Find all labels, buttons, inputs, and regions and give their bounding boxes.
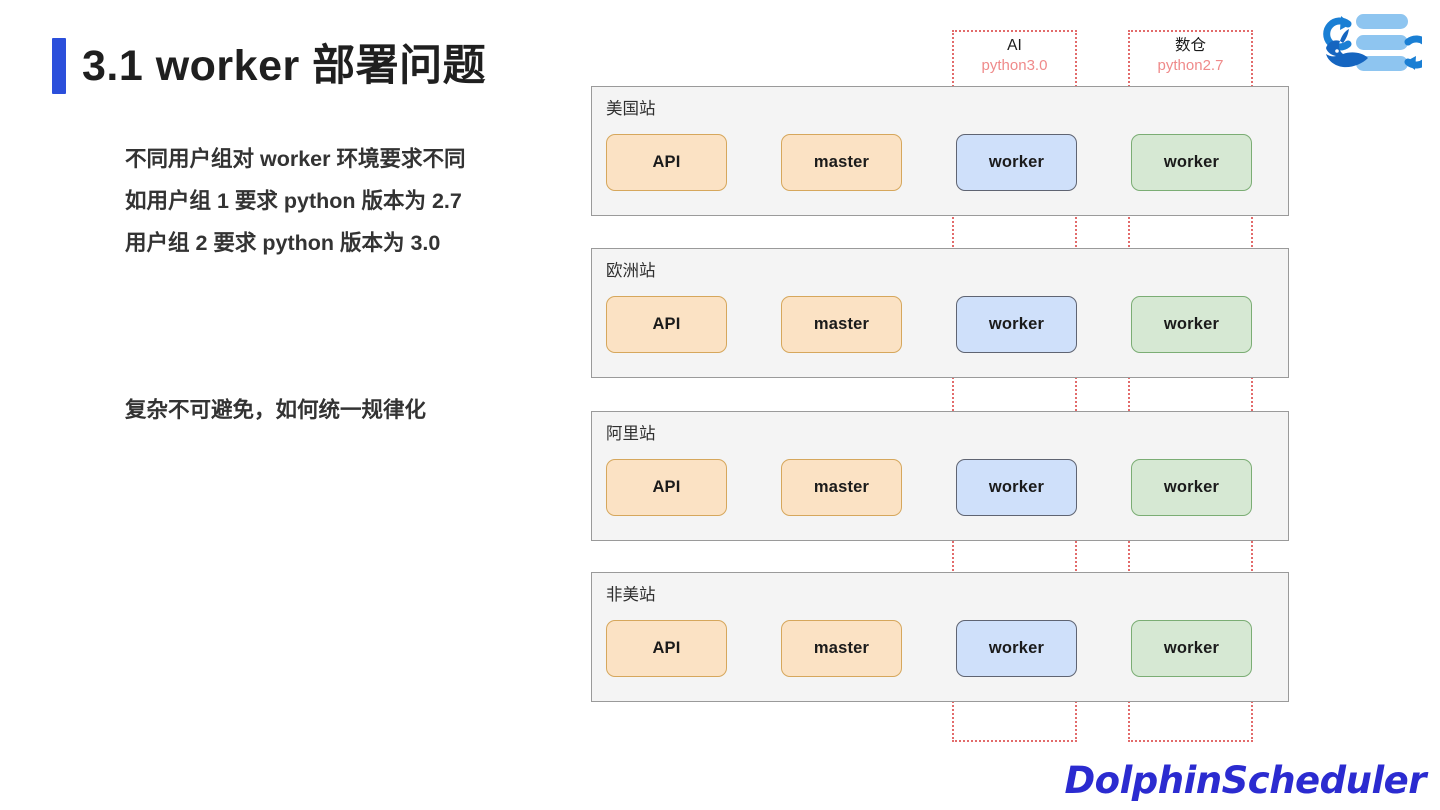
copy-line: 如用户组 1 要求 python 版本为 2.7	[125, 180, 555, 222]
env-name: 数仓	[1130, 36, 1251, 56]
site-label: 阿里站	[606, 424, 656, 444]
copy-line: 不同用户组对 worker 环境要求不同	[125, 138, 555, 180]
node-master[interactable]: master	[781, 620, 902, 677]
node-master[interactable]: master	[781, 459, 902, 516]
page-title: 3.1 worker 部署问题	[52, 38, 486, 94]
node-worker-datawarehouse[interactable]: worker	[1131, 134, 1252, 191]
node-worker-datawarehouse[interactable]: worker	[1131, 459, 1252, 516]
node-strip: API master worker worker	[592, 459, 1288, 519]
node-strip: API master worker worker	[592, 296, 1288, 356]
env-version: python2.7	[1130, 56, 1251, 76]
env-version: python3.0	[954, 56, 1075, 76]
site-row: 欧洲站 API master worker worker	[591, 248, 1289, 378]
site-row: 阿里站 API master worker worker	[591, 411, 1289, 541]
site-row: 美国站 API master worker worker	[591, 86, 1289, 216]
node-worker-ai[interactable]: worker	[956, 134, 1077, 191]
dolphinscheduler-wordmark: DolphinScheduler	[1064, 759, 1426, 802]
copy-line: 用户组 2 要求 python 版本为 3.0	[125, 222, 555, 264]
node-worker-ai[interactable]: worker	[956, 296, 1077, 353]
node-api[interactable]: API	[606, 459, 727, 516]
site-label: 美国站	[606, 99, 656, 119]
env-name: AI	[954, 36, 1075, 56]
node-strip: API master worker worker	[592, 620, 1288, 680]
body-copy-block: 不同用户组对 worker 环境要求不同 如用户组 1 要求 python 版本…	[125, 138, 555, 264]
node-worker-ai[interactable]: worker	[956, 620, 1077, 677]
node-worker-datawarehouse[interactable]: worker	[1131, 620, 1252, 677]
node-worker-datawarehouse[interactable]: worker	[1131, 296, 1252, 353]
deployment-diagram: AI python3.0 数仓 python2.7 美国站 API master…	[580, 20, 1300, 750]
env-column-datawarehouse-header: 数仓 python2.7	[1130, 36, 1251, 76]
site-row: 非美站 API master worker worker	[591, 572, 1289, 702]
dolphinscheduler-logo-icon	[1318, 8, 1422, 80]
node-worker-ai[interactable]: worker	[956, 459, 1077, 516]
node-strip: API master worker worker	[592, 134, 1288, 194]
node-api[interactable]: API	[606, 620, 727, 677]
node-api[interactable]: API	[606, 134, 727, 191]
node-api[interactable]: API	[606, 296, 727, 353]
env-column-ai-header: AI python3.0	[954, 36, 1075, 76]
page-title-text: 3.1 worker 部署问题	[82, 45, 486, 88]
node-master[interactable]: master	[781, 296, 902, 353]
conclusion-text: 复杂不可避免，如何统一规律化	[125, 392, 426, 428]
node-master[interactable]: master	[781, 134, 902, 191]
site-label: 非美站	[606, 585, 656, 605]
title-accent-bar	[52, 38, 66, 94]
site-label: 欧洲站	[606, 261, 656, 281]
